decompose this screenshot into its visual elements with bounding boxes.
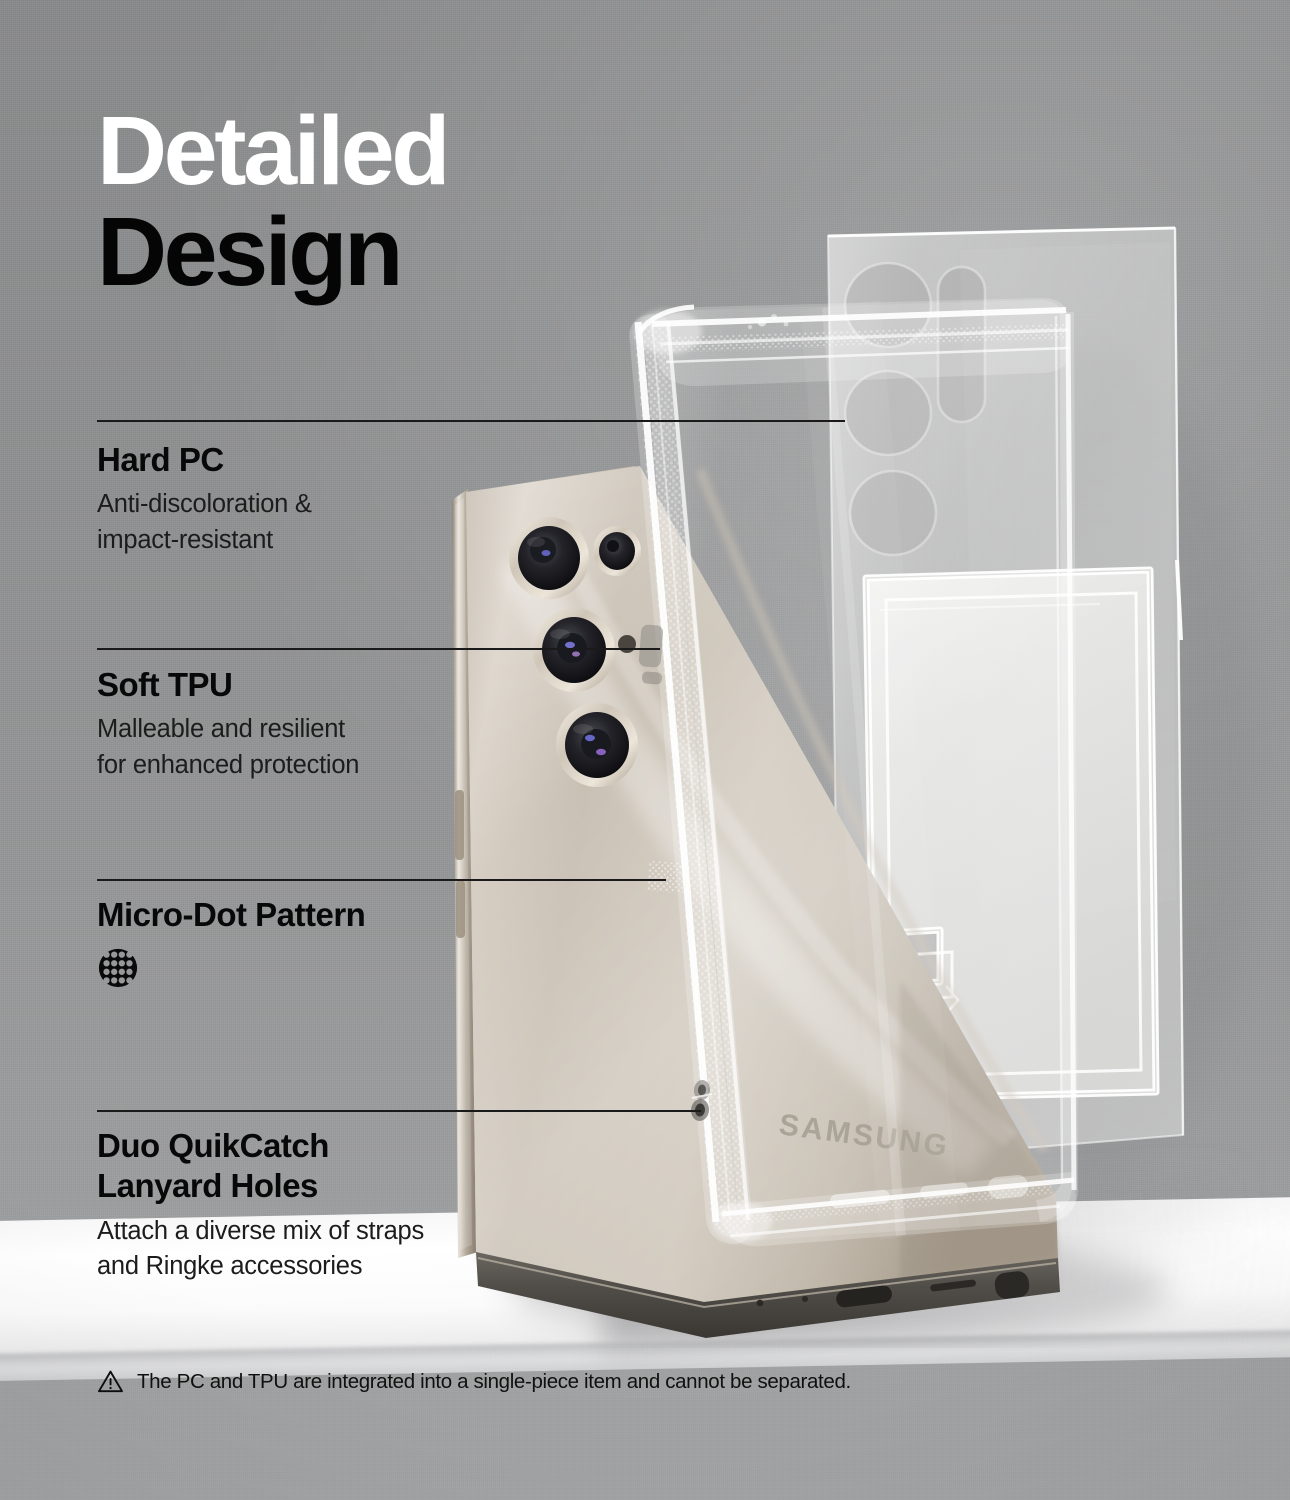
feature-heading: Duo QuikCatch Lanyard Holes: [97, 1126, 424, 1207]
case-back-panel: [828, 228, 1183, 1150]
feature-lanyard-holes: Duo QuikCatch Lanyard Holes Attach a div…: [97, 1126, 424, 1285]
feature-description: Attach a diverse mix of straps and Ringk…: [97, 1214, 424, 1285]
page-title: Detailed Design: [97, 104, 447, 298]
footer-note: The PC and TPU are integrated into a sin…: [97, 1369, 851, 1394]
lanyard-holes: [690, 1079, 712, 1121]
footer-note-text: The PC and TPU are integrated into a sin…: [137, 1370, 851, 1394]
camera-cutout-4: [938, 267, 985, 422]
leader-line-micro-dot: [97, 879, 666, 881]
samsung-logo: SAMSUNG: [777, 1108, 951, 1163]
micro-dot-icon: [97, 947, 139, 989]
button-cutout-volume: [638, 624, 663, 668]
camera-cutout-2: [845, 371, 931, 455]
feature-micro-dot: Micro-Dot Pattern: [97, 895, 365, 989]
feature-hard-pc: Hard PC Anti-discoloration & impact-resi…: [97, 440, 312, 559]
case-front-frame: [629, 298, 1078, 1246]
warning-triangle-icon: [97, 1369, 124, 1394]
case-frosted-plate: [866, 570, 1156, 1098]
scene-background: SAMSUNG: [0, 0, 1290, 1500]
feature-heading: Hard PC: [97, 440, 312, 480]
feature-heading: Micro-Dot Pattern: [97, 895, 365, 935]
camera-cutout-3: [850, 471, 936, 555]
page-title-line-2: Design: [97, 205, 447, 298]
feature-description: Malleable and resilient for enhanced pro…: [97, 712, 359, 783]
feature-heading: Soft TPU: [97, 665, 359, 705]
page-title-line-1: Detailed: [97, 104, 447, 197]
leader-line-lanyard: [97, 1110, 701, 1112]
feature-description: Anti-discoloration & impact-resistant: [97, 487, 312, 558]
leader-line-soft-tpu: [97, 648, 660, 650]
feature-soft-tpu: Soft TPU Malleable and resilient for enh…: [97, 665, 359, 784]
camera-cutout-1: [845, 263, 931, 347]
leader-line-hard-pc: [97, 420, 845, 422]
camera-lenses: [509, 517, 641, 787]
